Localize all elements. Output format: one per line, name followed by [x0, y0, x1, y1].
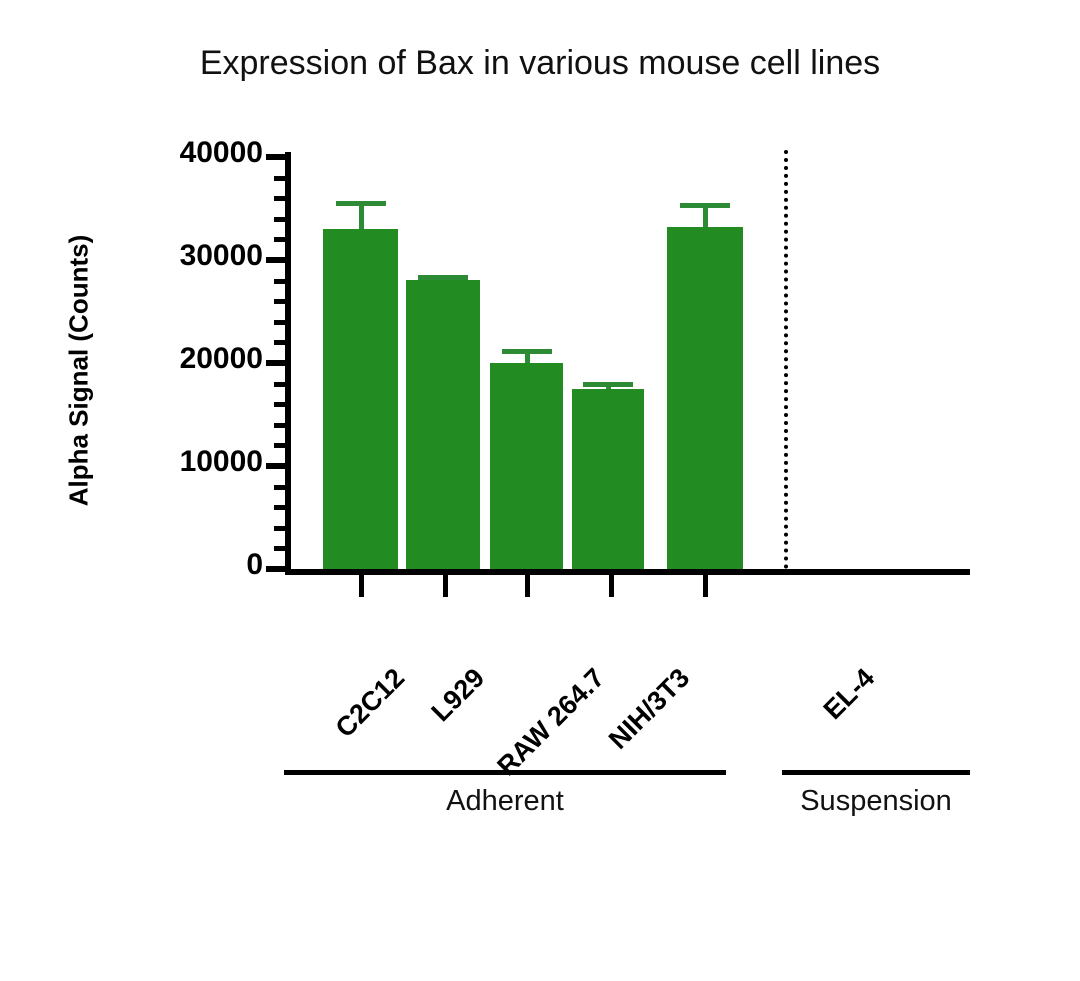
y-minor-tick [274, 485, 285, 490]
group-separator-line [784, 150, 788, 569]
error-bar-cap [336, 201, 386, 206]
x-major-tick [359, 575, 364, 597]
y-axis-tick-labels: 010000200003000040000 [48, 0, 263, 870]
bar-raw-264-7 [490, 363, 563, 569]
group-rule [782, 770, 970, 775]
y-minor-tick [274, 340, 285, 345]
y-major-tick [266, 566, 285, 572]
x-major-tick [703, 575, 708, 597]
y-tick-label: 30000 [63, 239, 263, 273]
bar-nih-3t3 [572, 389, 644, 569]
bar-c2c12 [323, 229, 398, 569]
x-category-label: EL-4 [562, 663, 881, 981]
y-major-tick [266, 360, 285, 366]
y-tick-label: 20000 [63, 342, 263, 376]
y-tick-label: 40000 [63, 136, 263, 170]
group-label: Adherent [284, 785, 726, 818]
chart-figure: Expression of Bax in various mouse cell … [0, 0, 1080, 870]
y-minor-tick [274, 505, 285, 510]
y-major-tick [266, 257, 285, 263]
y-minor-tick [274, 423, 285, 428]
x-major-tick [525, 575, 530, 597]
y-tick-label: 10000 [63, 445, 263, 479]
bar-l929 [406, 280, 480, 569]
y-axis-spine [285, 152, 291, 574]
error-bar-cap [583, 382, 633, 387]
y-tick-label: 0 [63, 548, 263, 582]
y-minor-tick [274, 526, 285, 531]
y-minor-tick [274, 217, 285, 222]
bar-el-4 [667, 227, 743, 569]
group-rule [284, 770, 726, 775]
y-major-tick [266, 463, 285, 469]
y-minor-tick [274, 546, 285, 551]
y-major-tick [266, 154, 285, 160]
error-bar-cap [502, 349, 552, 354]
y-minor-tick [274, 176, 285, 181]
error-bar-cap [418, 275, 468, 280]
group-label: Suspension [782, 785, 970, 818]
y-minor-tick [274, 196, 285, 201]
error-bar-cap [680, 203, 730, 208]
y-minor-tick [274, 299, 285, 304]
y-minor-tick [274, 382, 285, 387]
x-major-tick [609, 575, 614, 597]
x-axis-spine [285, 569, 970, 575]
y-minor-tick [274, 237, 285, 242]
y-minor-tick [274, 402, 285, 407]
y-minor-tick [274, 320, 285, 325]
y-minor-tick [274, 279, 285, 284]
y-minor-tick [274, 443, 285, 448]
x-major-tick [443, 575, 448, 597]
